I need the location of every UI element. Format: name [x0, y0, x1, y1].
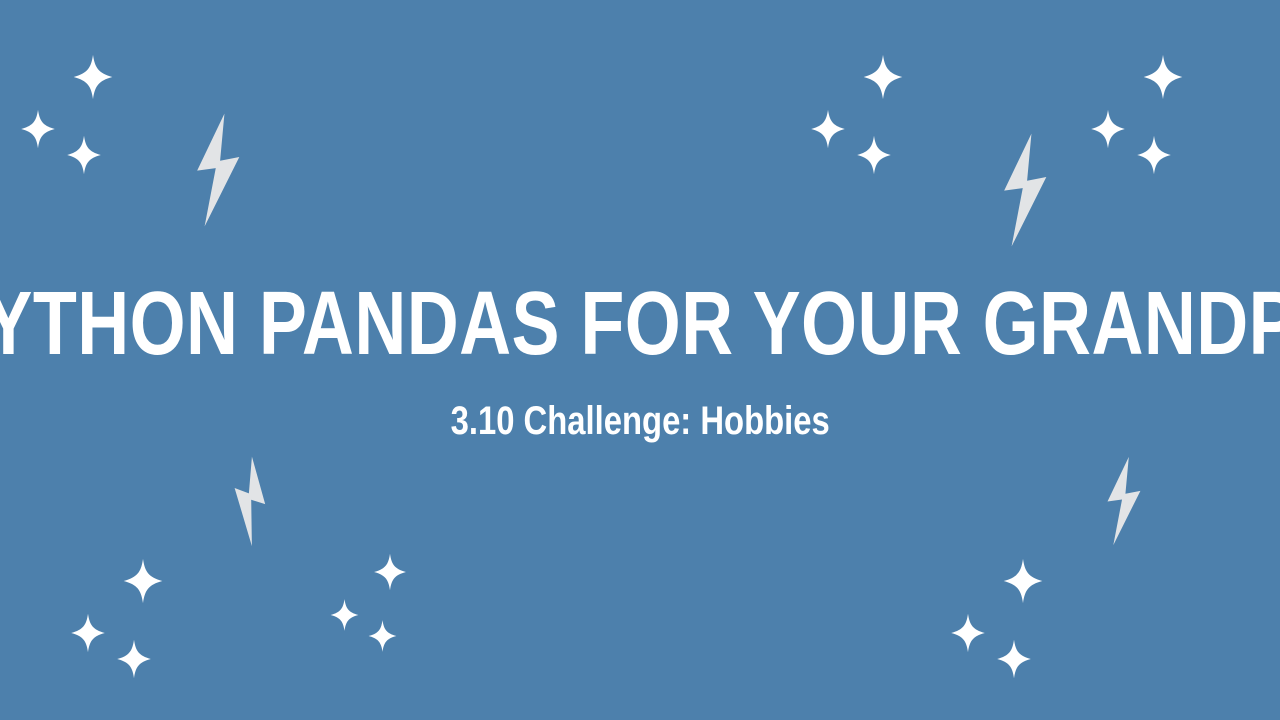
title-slide: PYTHON PANDAS FOR YOUR GRANDPA 3.10 Chal…: [0, 0, 1280, 720]
slide-subtitle: 3.10 Challenge: Hobbies: [450, 401, 829, 441]
page-title: PYTHON PANDAS FOR YOUR GRANDPA: [0, 279, 1280, 369]
slide-content: PYTHON PANDAS FOR YOUR GRANDPA 3.10 Chal…: [0, 0, 1280, 720]
